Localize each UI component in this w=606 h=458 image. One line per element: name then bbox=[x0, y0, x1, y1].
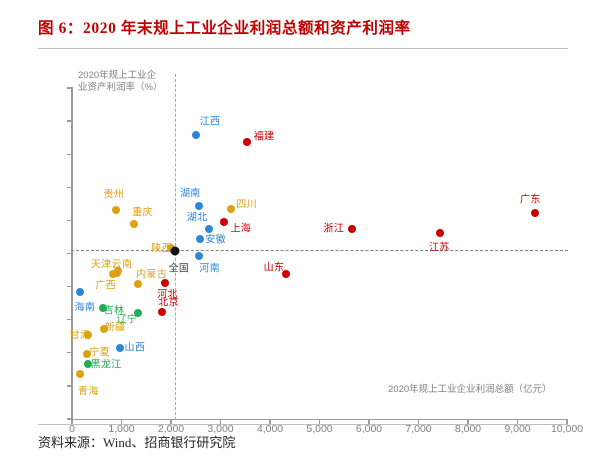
data-point-江苏[interactable] bbox=[436, 229, 444, 237]
data-point-贵州[interactable] bbox=[112, 206, 120, 214]
figure-title: 图 6：2020 年末规上工业企业利润总额和资产利润率 bbox=[38, 16, 411, 38]
data-point-label-海南: 海南 bbox=[75, 299, 96, 314]
data-point-label-山西: 山西 bbox=[125, 338, 146, 353]
data-point-label-青海: 青海 bbox=[78, 382, 99, 397]
y-tick bbox=[67, 120, 71, 121]
data-point-label-安徽: 安徽 bbox=[205, 230, 226, 245]
data-point-label-广西: 广西 bbox=[95, 276, 116, 291]
data-point-重庆[interactable] bbox=[130, 220, 138, 228]
data-point-label-河南: 河南 bbox=[199, 260, 220, 275]
data-point-浙江[interactable] bbox=[348, 225, 356, 233]
data-point-label-山东: 山东 bbox=[264, 259, 285, 274]
y-axis-title-line: 2020年规上工业企 bbox=[78, 70, 162, 82]
y-tick bbox=[67, 352, 71, 353]
source-divider bbox=[38, 424, 568, 425]
data-point-内蒙古[interactable] bbox=[134, 280, 142, 288]
y-tick bbox=[67, 253, 71, 254]
y-axis-line bbox=[71, 87, 73, 420]
data-point-北京[interactable] bbox=[158, 308, 166, 316]
data-point-青海[interactable] bbox=[76, 370, 84, 378]
data-point-四川[interactable] bbox=[227, 205, 235, 213]
data-point-label-江苏: 江苏 bbox=[429, 239, 450, 254]
y-tick bbox=[67, 154, 71, 155]
data-point-label-江西: 江西 bbox=[200, 113, 221, 128]
data-point-label-陕西: 陕西 bbox=[151, 239, 172, 254]
data-point-江西[interactable] bbox=[192, 131, 200, 139]
x-axis-title: 2020年规上工业企业利润总额（亿元） bbox=[388, 384, 552, 396]
y-tick bbox=[67, 319, 71, 320]
data-point-label-湖南: 湖南 bbox=[180, 184, 201, 199]
figure-container: 图 6：2020 年末规上工业企业利润总额和资产利润率 0%1%2%3%4%5%… bbox=[0, 0, 606, 458]
data-point-福建[interactable] bbox=[243, 138, 251, 146]
y-axis-title: 2020年规上工业企业资产利润率（%） bbox=[78, 70, 162, 94]
y-tick bbox=[67, 286, 71, 287]
data-point-全国[interactable] bbox=[171, 246, 180, 255]
y-tick bbox=[67, 385, 71, 386]
data-point-label-福建: 福建 bbox=[254, 128, 275, 143]
data-point-安徽[interactable] bbox=[196, 235, 204, 243]
title-divider bbox=[38, 48, 568, 49]
data-point-上海[interactable] bbox=[220, 218, 228, 226]
horizontal-reference-line bbox=[71, 250, 568, 251]
data-point-label-浙江: 浙江 bbox=[324, 220, 345, 235]
data-point-label-四川: 四川 bbox=[236, 195, 257, 210]
data-point-label-重庆: 重庆 bbox=[132, 203, 153, 218]
data-point-label-湖北: 湖北 bbox=[187, 209, 208, 224]
data-point-label-广东: 广东 bbox=[520, 190, 541, 205]
data-point-label-内蒙古: 内蒙古 bbox=[136, 265, 167, 280]
data-point-label-全国: 全国 bbox=[169, 259, 190, 274]
y-axis-title-line: 业资产利润率（%） bbox=[78, 82, 162, 94]
data-point-海南[interactable] bbox=[76, 288, 84, 296]
data-point-label-天津: 天津 bbox=[91, 256, 112, 271]
y-tick bbox=[67, 87, 71, 88]
y-tick bbox=[67, 220, 71, 221]
data-point-山西[interactable] bbox=[116, 344, 124, 352]
y-tick bbox=[67, 187, 71, 188]
figure-source: 资料来源：Wind、招商银行研究院 bbox=[38, 432, 235, 451]
data-point-广东[interactable] bbox=[531, 209, 539, 217]
data-point-label-云南: 云南 bbox=[112, 255, 133, 270]
data-point-label-甘肃: 甘肃 bbox=[70, 326, 91, 341]
data-point-label-新疆: 新疆 bbox=[105, 318, 126, 333]
data-point-label-贵州: 贵州 bbox=[104, 186, 125, 201]
data-point-label-上海: 上海 bbox=[230, 220, 251, 235]
data-point-label-黑龙江: 黑龙江 bbox=[91, 355, 122, 370]
data-point-label-北京: 北京 bbox=[158, 294, 179, 309]
